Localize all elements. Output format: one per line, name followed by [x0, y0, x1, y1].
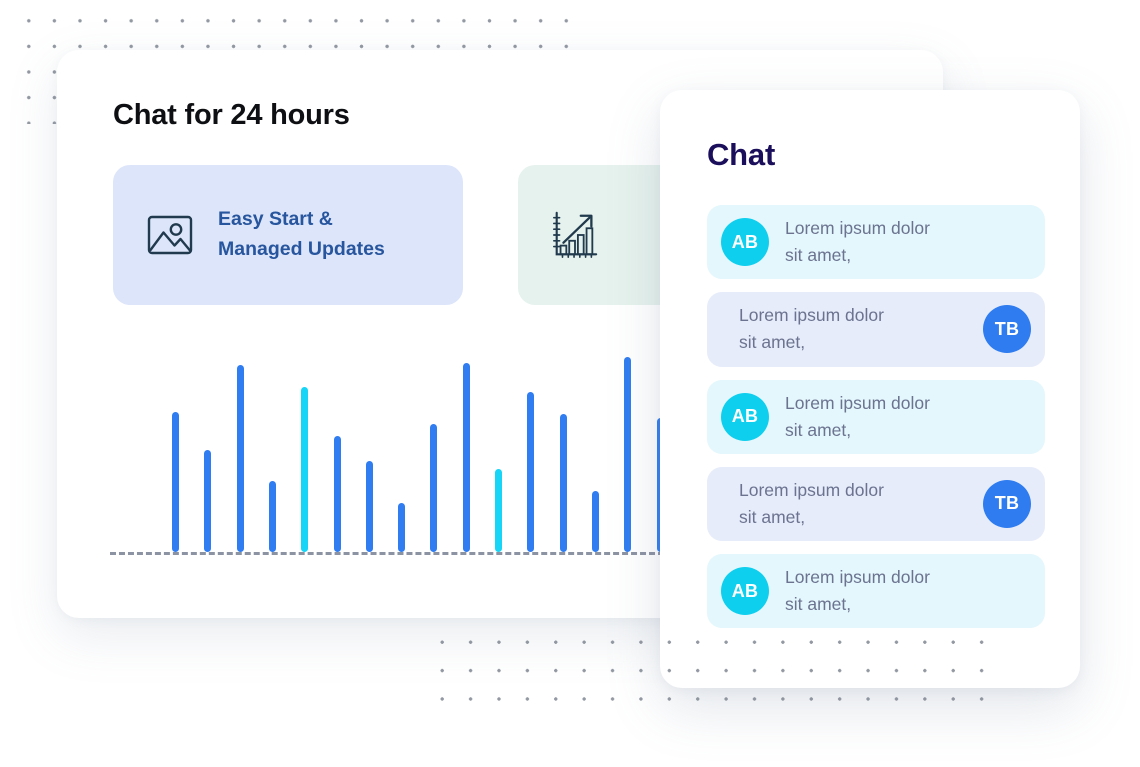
chat-message-text: Lorem ipsum dolor sit amet,	[739, 477, 884, 531]
avatar: TB	[983, 305, 1031, 353]
avatar: AB	[721, 567, 769, 615]
chat-panel-title: Chat	[707, 137, 775, 173]
avatar: AB	[721, 393, 769, 441]
chart-bar	[334, 436, 341, 552]
chat-message-incoming[interactable]: ABLorem ipsum dolor sit amet,	[707, 380, 1045, 454]
chat-panel: Chat ABLorem ipsum dolor sit amet,Lorem …	[660, 90, 1080, 688]
chat-message-text: Lorem ipsum dolor sit amet,	[785, 215, 930, 269]
chart-baseline-axis	[110, 552, 664, 555]
chart-bar	[592, 491, 599, 552]
page-root: Chat for 24 hours Easy Start & Managed U…	[0, 0, 1140, 767]
chart-bar	[430, 424, 437, 552]
chat-message-text: Lorem ipsum dolor sit amet,	[785, 390, 930, 444]
chart-bar	[624, 357, 631, 552]
chart-bar	[463, 363, 470, 552]
feature-card-easy-start[interactable]: Easy Start & Managed Updates	[113, 165, 463, 305]
chart-bar	[269, 481, 276, 552]
chat-message-text: Lorem ipsum dolor sit amet,	[785, 564, 930, 618]
chart-bar	[560, 414, 567, 552]
chart-bar	[366, 461, 373, 552]
chat-message-outgoing[interactable]: Lorem ipsum dolor sit amet,TB	[707, 467, 1045, 541]
chart-bar	[495, 469, 502, 552]
chat-message-incoming[interactable]: ABLorem ipsum dolor sit amet,	[707, 205, 1045, 279]
image-placeholder-icon	[144, 209, 196, 261]
chart-bar	[172, 412, 179, 552]
chat-message-incoming[interactable]: ABLorem ipsum dolor sit amet,	[707, 554, 1045, 628]
chart-bar	[398, 503, 405, 552]
chat-message-text: Lorem ipsum dolor sit amet,	[739, 302, 884, 356]
chat-message-outgoing[interactable]: Lorem ipsum dolor sit amet,TB	[707, 292, 1045, 366]
chart-bar	[301, 387, 308, 552]
avatar: AB	[721, 218, 769, 266]
chart-bar	[204, 450, 211, 552]
page-title: Chat for 24 hours	[113, 99, 350, 132]
chart-bar	[237, 365, 244, 552]
chart-bar	[527, 392, 534, 552]
feature-card-label: Easy Start & Managed Updates	[218, 205, 385, 264]
bar-chart-growth-icon	[549, 209, 601, 261]
chat-message-list: ABLorem ipsum dolor sit amet,Lorem ipsum…	[707, 205, 1045, 641]
avatar: TB	[983, 480, 1031, 528]
